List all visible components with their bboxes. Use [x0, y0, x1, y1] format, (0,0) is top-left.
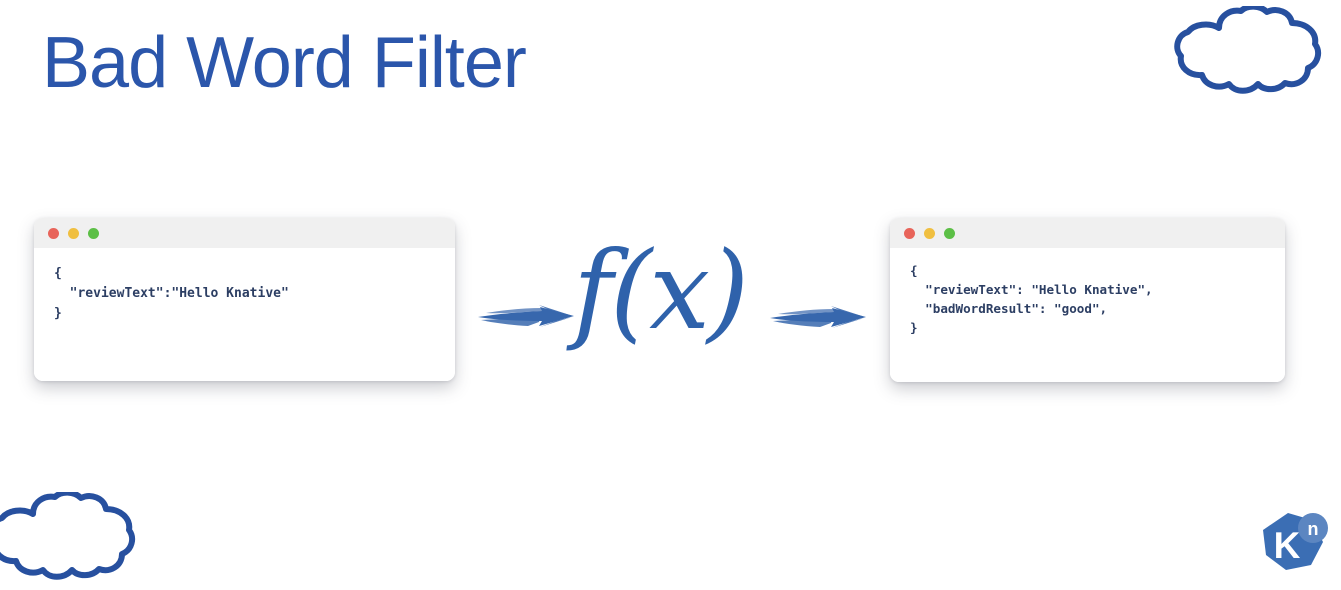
window-titlebar[interactable] [890, 218, 1285, 248]
knative-logo-letter: K [1274, 525, 1301, 566]
knative-logo-badge-letter: n [1308, 519, 1319, 539]
cloud-icon [1172, 6, 1322, 104]
window-titlebar[interactable] [34, 218, 455, 248]
function-symbol: f(x) [573, 238, 746, 346]
input-json-code: { "reviewText":"Hello Knative" } [34, 264, 455, 324]
cloud-icon [0, 492, 136, 590]
window-body: { "reviewText":"Hello Knative" } [34, 248, 455, 381]
maximize-dot[interactable] [944, 228, 955, 239]
knative-logo: K n [1258, 511, 1328, 579]
page-title: Bad Word Filter [42, 26, 526, 102]
minimize-dot[interactable] [924, 228, 935, 239]
output-json-window[interactable]: { "reviewText": "Hello Knative", "badWor… [890, 218, 1285, 382]
input-json-window[interactable]: { "reviewText":"Hello Knative" } [34, 218, 455, 381]
maximize-dot[interactable] [88, 228, 99, 239]
output-json-code: { "reviewText": "Hello Knative", "badWor… [890, 261, 1285, 337]
close-dot[interactable] [904, 228, 915, 239]
arrow-right-icon [768, 297, 868, 337]
window-body: { "reviewText": "Hello Knative", "badWor… [890, 248, 1285, 382]
close-dot[interactable] [48, 228, 59, 239]
minimize-dot[interactable] [68, 228, 79, 239]
arrow-right-icon [476, 296, 576, 336]
